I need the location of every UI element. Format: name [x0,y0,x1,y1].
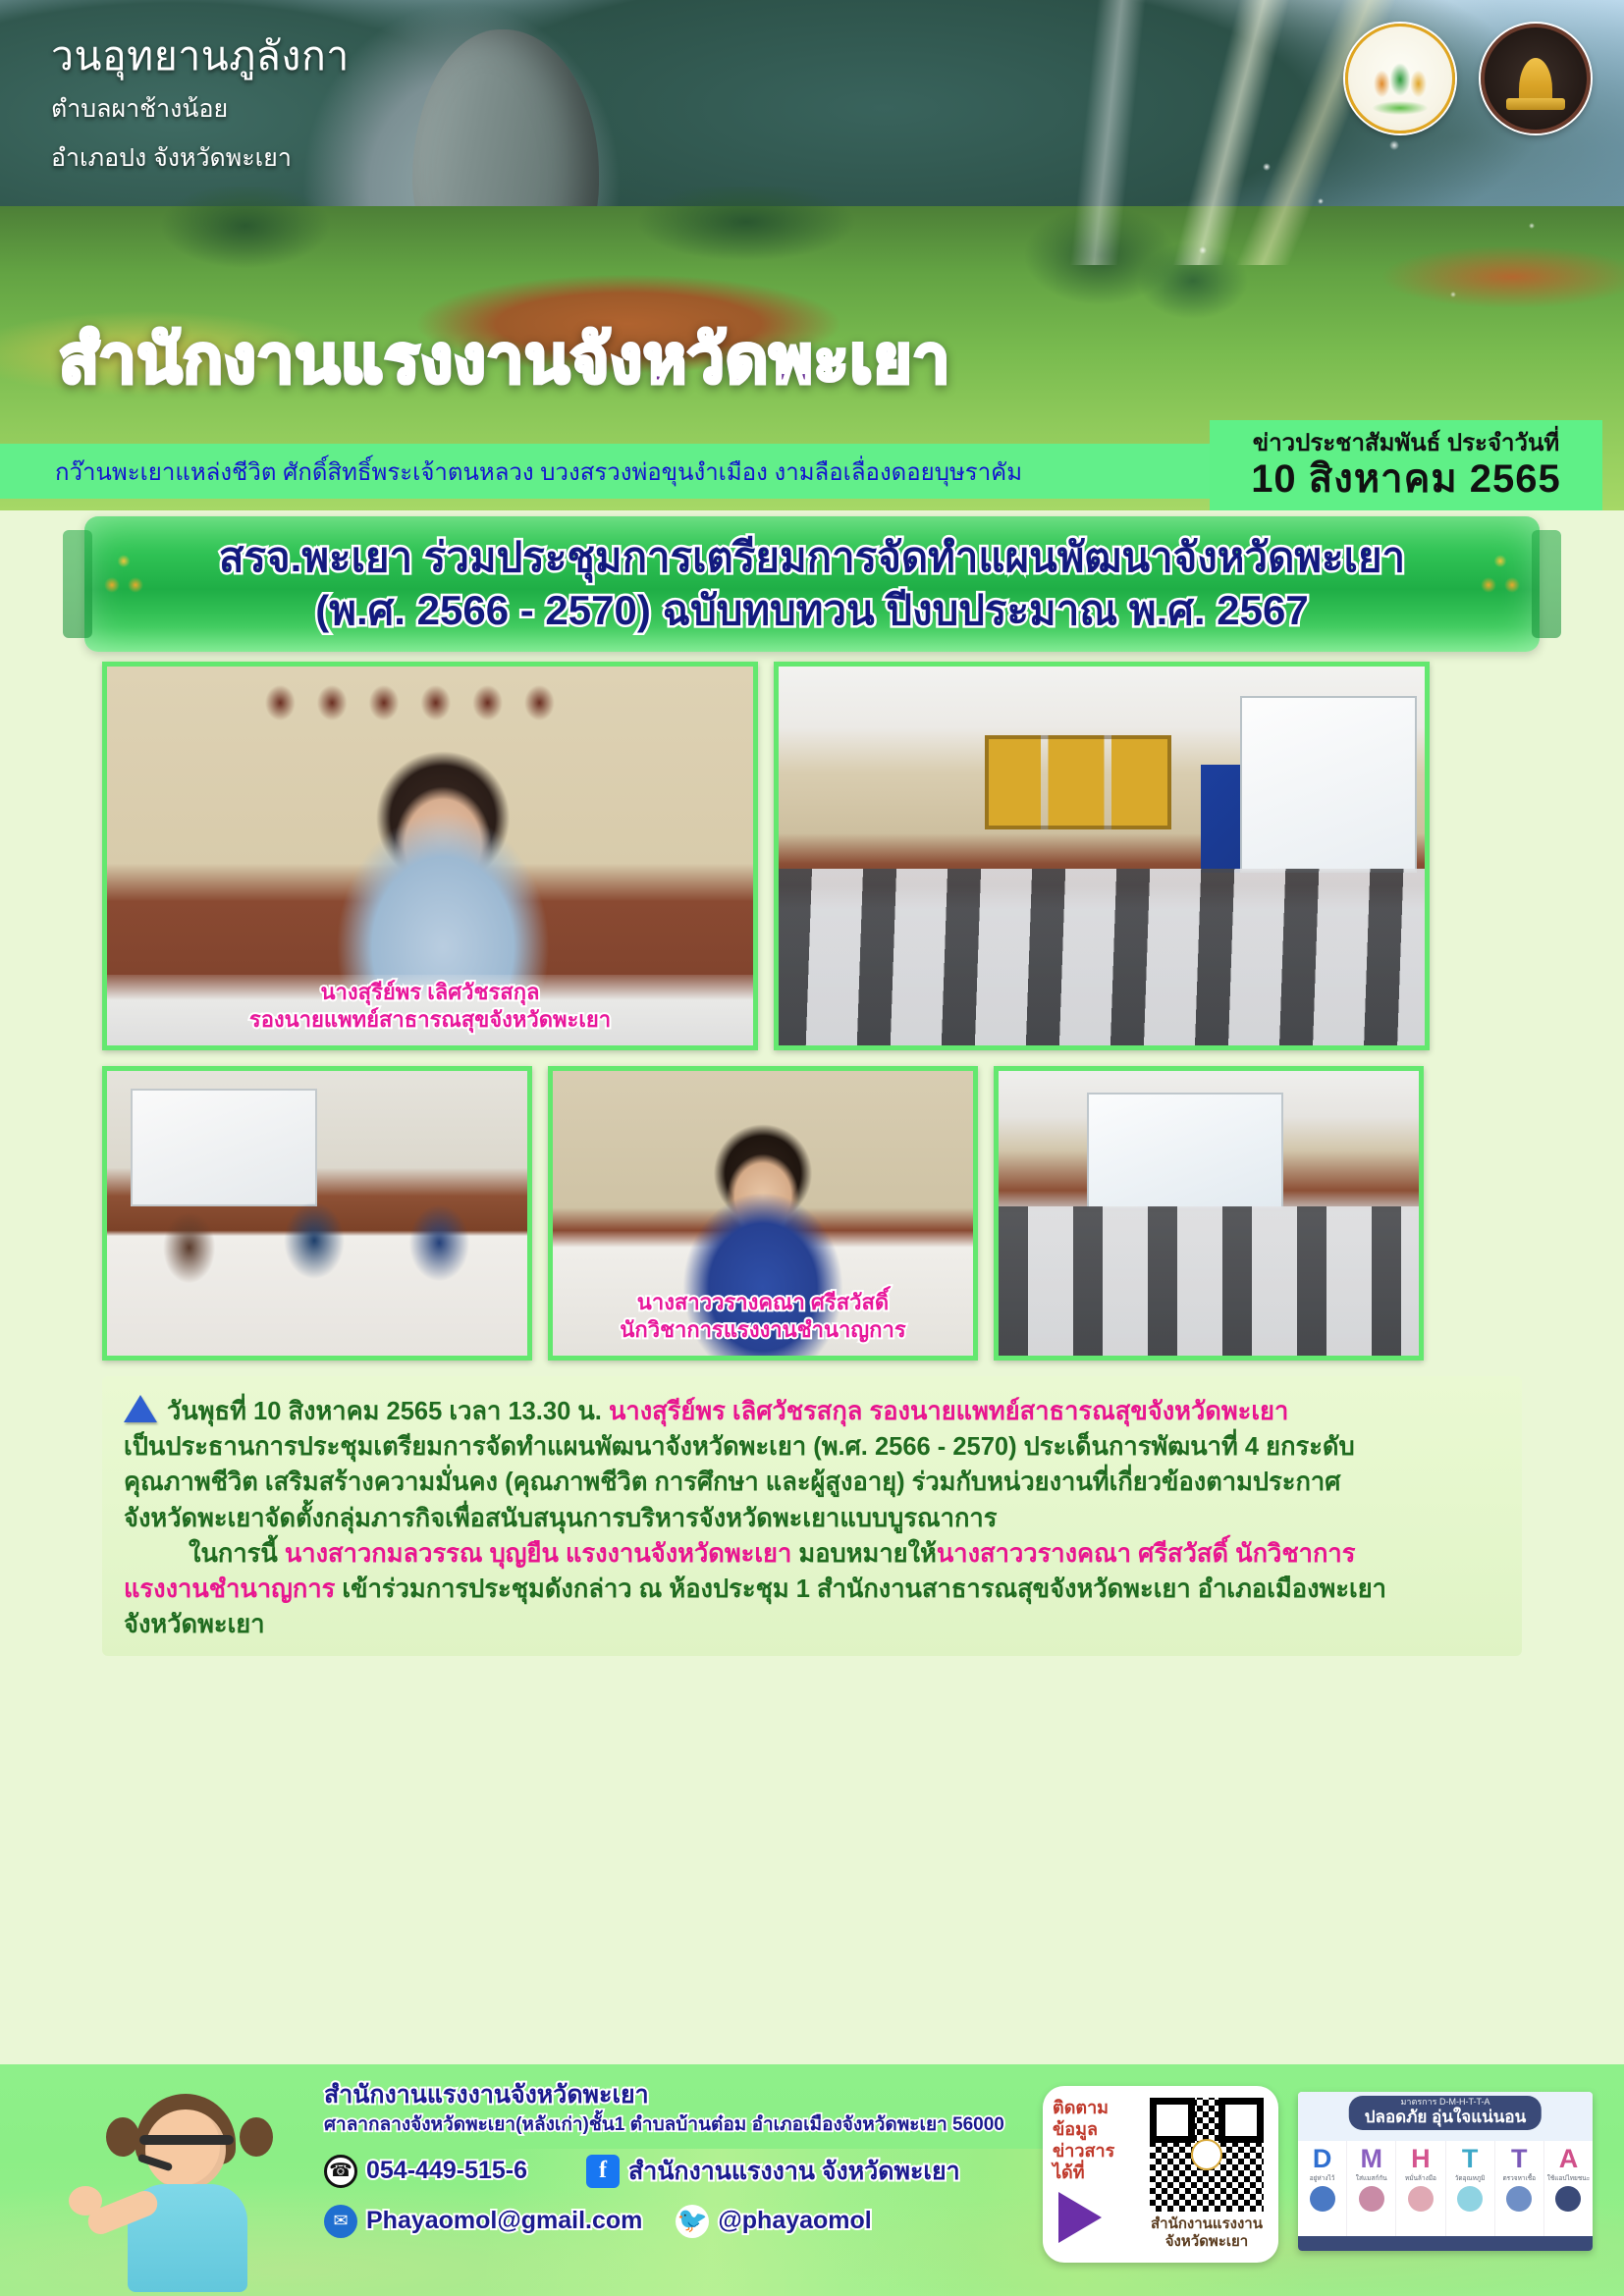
contact-row-2: ✉ Phayaomol@gmail.com 🐦 @phayaomol [324,2205,1011,2238]
organization-title: สำนักงานแรงงานจังหวัดพะเยา [0,324,1624,397]
dmhtta-letter: H [1411,2146,1431,2172]
dmhtta-column-d: D อยู่ห่างไว้ [1298,2141,1347,2236]
headline-ribbon: สรจ.พะเยา ร่วมประชุมการเตรียมการจัดทำแผน… [84,516,1540,652]
park-subline-2: อำเภอปง จังหวัดพะเยา [51,140,350,178]
slogan-bar: กว๊านพะเยาแหล่งชีวิต ศักดิ์สิทธิ์พระเจ้า… [0,444,1218,499]
photo-three-attendees [102,1066,532,1361]
dmhtta-label: วัดอุณหภูมิ [1455,2175,1486,2182]
dmhtta-column-m: M ใส่แมสก์กัน [1347,2141,1396,2236]
footer-address: ศาลากลางจังหวัดพะเยา(หลังเก่า)ชั้น1 ตำบล… [324,2113,1011,2138]
dmhtta-title: ปลอดภัย อุ่นใจแน่นอน [1365,2108,1526,2127]
photo-caption-labour-officer: นางสาววรางคณา ศรีสวัสดิ์ นักวิชาการแรงงา… [553,1289,973,1344]
caption-name: นางสาววรางคณา ศรีสวัสดิ์ [553,1289,973,1316]
twitter-handle: @phayaomol [718,2207,871,2235]
dmhtta-label: อยู่ห่างไว้ [1310,2175,1335,2182]
headline-ribbon-wrap: สรจ.พะเยา ร่วมประชุมการเตรียมการจัดทำแผน… [0,510,1624,658]
photo-row-bottom: นางสาววรางคณา ศรีสวัสดิ์ นักวิชาการแรงงา… [102,1066,1522,1361]
dmhtta-label: ใช้แอปไทยชนะ [1547,2175,1591,2182]
phone-contact[interactable]: ☎ 054-449-515-6 [324,2155,527,2188]
twitter-icon: 🐦 [676,2205,709,2238]
body-highlight-name: นางสุรีย์พร เลิศวัชรสกุล รองนายแพทย์สาธา… [609,1398,1288,1425]
hero-banner: วนอุทยานภูลังกา ตำบลผาช้างน้อย อำเภอปง จ… [0,0,1624,510]
operator-headset [139,2135,234,2145]
body-text: เข้าร่วมการประชุมดังกล่าว ณ ห้องประชุม 1… [335,1575,1386,1603]
dmhtta-title-pill: มาตรการ D-M-H-T-T-A ปลอดภัย อุ่นใจแน่นอน [1349,2096,1542,2130]
photo-meeting-room-wide [774,662,1430,1050]
body-paragraph-1-line-3: คุณภาพชีวิต เสริมสร้างความมั่นคง (คุณภาพ… [124,1465,1500,1500]
body-paragraph-2-line-3: จังหวัดพะเยา [124,1607,1500,1642]
qr-line-1: ติดตาม [1053,2098,1137,2119]
dmhtta-column-t2: T ตรวจหาเชื้อ [1495,2141,1544,2236]
body-paragraph-1-line-1: วันพุธที่ 10 สิงหาคม 2565 เวลา 13.30 น. … [124,1394,1500,1429]
body-paragraph-2-line-1: ในการนี้ นางสาวกมลวรรณ บุญยืน แรงงานจังห… [124,1536,1500,1572]
dmhtta-header: มาตรการ D-M-H-T-T-A ปลอดภัย อุ่นใจแน่นอน [1298,2092,1593,2141]
dmhtta-illustration-icon [1310,2186,1335,2212]
dmhtta-column-h: H หมั่นล้างมือ [1396,2141,1445,2236]
body-highlight-name-1: นางสาวกมลวรรณ บุญยืน แรงงานจังหวัดพะเยา [285,1540,791,1568]
org-title-wrap: สำนักงานแรงงานจังหวัดพะเยา [0,324,1624,397]
dmhtta-label: ใส่แมสก์กัน [1356,2175,1387,2182]
park-subline-1: ตำบลผาช้างน้อย [51,91,350,129]
qr-center-emblem [1191,2139,1222,2170]
footer-org-name: สำนักงานแรงงานจังหวัดพะเยา [324,2080,1011,2110]
dmhtta-illustration-icon [1506,2186,1532,2212]
photo-caption-chairperson: นางสุรีย์พร เลิศวัชรสกุล รองนายแพทย์สาธา… [107,979,753,1034]
contact-block: สำนักงานแรงงานจังหวัดพะเยา ศาลากลางจังหว… [324,2080,1011,2238]
caption-role: รองนายแพทย์สาธารณสุขจังหวัดพะเยา [107,1006,753,1034]
qr-caption: สำนักงานแรงงาน จังหวัดพะเยา [1151,2216,1263,2251]
phayao-province-seal-icon [1481,24,1591,133]
dmhtta-illustration-icon [1555,2186,1581,2212]
photo-row-top: นางสุรีย์พร เลิศวัชรสกุล รองนายแพทย์สาธา… [102,662,1522,1050]
email-address: Phayaomol@gmail.com [366,2207,642,2235]
facebook-icon: f [586,2155,620,2188]
qr-line-3: ข่าวสาร [1053,2141,1137,2163]
dmhtta-letter: T [1511,2146,1528,2172]
operator-hand [69,2186,102,2216]
photo-labour-officer: นางสาววรางคณา ศรีสวัสดิ์ นักวิชาการแรงงา… [548,1066,978,1361]
email-icon: ✉ [324,2205,357,2238]
body-paragraph-2-line-2: แรงงานชำนาญการ เข้าร่วมการประชุมดังกล่าว… [124,1572,1500,1607]
dmhtta-letter: M [1361,2146,1383,2172]
operator-head [145,2109,226,2190]
ribbon-ornament-left-icon [94,550,153,607]
photo-grid: นางสุรีย์พร เลิศวัชรสกุล รองนายแพทย์สาธา… [0,658,1624,1361]
footer-bar: สำนักงานแรงงานจังหวัดพะเยา ศาลากลางจังหว… [0,2064,1624,2296]
headline-line-2: (พ.ศ. 2566 - 2570) ฉบับทบทวน ปีงบประมาณ … [315,584,1308,637]
photo-room-projector [994,1066,1424,1361]
dmhtta-columns: D อยู่ห่างไว้ M ใส่แมสก์กัน H หมั่นล้างม… [1298,2141,1593,2236]
phone-icon: ☎ [324,2155,357,2188]
contact-row-1: ☎ 054-449-515-6 f สำนักงานแรงงาน จังหวัด… [324,2152,1011,2191]
province-slogan: กว๊านพะเยาแหล่งชีวิต ศักดิ์สิทธิ์พระเจ้า… [0,453,1022,491]
date-value: 10 สิงหาคม 2565 [1251,456,1561,502]
email-contact[interactable]: ✉ Phayaomol@gmail.com [324,2205,642,2238]
qr-line-2: ข้อมูล [1053,2119,1137,2141]
dmhtta-illustration-icon [1359,2186,1384,2212]
projector-screen [1240,696,1417,873]
dmhtta-column-t1: T วัดอุณหภูมิ [1446,2141,1495,2236]
body-paragraph-1-line-2: เป็นประธานการประชุมเตรียมการจัดทำแผนพัฒน… [124,1429,1500,1465]
body-paragraph-1-line-4: จังหวัดพะเยาจัดตั้งกลุ่มภารกิจเพื่อสนับส… [124,1501,1500,1536]
dmhtta-illustration-icon [1457,2186,1483,2212]
seating-rows [999,1206,1419,1356]
photo-chairperson: นางสุรีย์พร เลิศวัชรสกุล รองนายแพทย์สาธา… [102,662,758,1050]
dmhtta-illustration-icon [1408,2186,1434,2212]
royal-portraits [985,735,1171,829]
triangle-bullet-icon [124,1395,157,1422]
body-text: มอบหมายให้ [791,1540,937,1568]
ribbon-ornament-right-icon [1471,550,1530,607]
qr-follow-card[interactable]: ติดตาม ข้อมูล ข่าวสาร ได้ที่ สำนักงานแรง… [1043,2086,1278,2263]
seating-rows [779,869,1425,1045]
body-highlight-name-2: นางสาววรางคณา ศรีสวัสดิ์ นักวิชาการ [937,1540,1356,1568]
dmhtta-banner: มาตรการ D-M-H-T-T-A ปลอดภัย อุ่นใจแน่นอน… [1298,2092,1593,2251]
phone-number: 054-449-515-6 [366,2157,527,2185]
qr-code-icon[interactable] [1150,2098,1264,2212]
headline-line-1: สรจ.พะเยา ร่วมประชุมการเตรียมการจัดทำแผน… [219,531,1405,584]
caption-name: นางสุรีย์พร เลิศวัชรสกุล [107,979,753,1006]
attendees-group [127,1177,517,1295]
body-text: ในการนี้ [189,1540,285,1568]
twitter-contact[interactable]: 🐦 @phayaomol [676,2205,871,2238]
dmhtta-letter: T [1462,2146,1479,2172]
dmhtta-label: หมั่นล้างมือ [1405,2175,1436,2182]
facebook-name: สำนักงานแรงงาน จังหวัดพะเยา [628,2152,960,2191]
ministry-of-labour-seal-icon [1345,24,1455,133]
call-center-operator-illustration [102,2084,277,2290]
dmhtta-label: ตรวจหาเชื้อ [1502,2175,1536,2182]
dmhtta-letter: D [1313,2146,1332,2172]
body-text-card: วันพุธที่ 10 สิงหาคม 2565 เวลา 13.30 น. … [102,1376,1522,1656]
emblem-group [1345,24,1591,133]
dmhtta-small-title: มาตรการ D-M-H-T-T-A [1365,2098,1526,2108]
park-label: วนอุทยานภูลังกา ตำบลผาช้างน้อย อำเภอปง จ… [51,33,350,177]
caption-role: นักวิชาการแรงงานชำนาญการ [553,1316,973,1344]
play-triangle-icon [1058,2192,1102,2243]
dmhtta-footer-bar [1298,2236,1593,2251]
operator-hair-bun-left [106,2117,139,2157]
date-label: ข่าวประชาสัมพันธ์ ประจำวันที่ [1253,431,1559,456]
qr-card-text: ติดตาม ข้อมูล ข่าวสาร ได้ที่ [1053,2098,1137,2251]
park-title: วนอุทยานภูลังกา [51,33,350,80]
qr-caption-line-2: จังหวัดพะเยา [1151,2233,1263,2251]
date-badge: ข่าวประชาสัมพันธ์ ประจำวันที่ 10 สิงหาคม… [1210,420,1602,510]
qr-caption-line-1: สำนักงานแรงงาน [1151,2216,1263,2233]
projection-screen [1087,1093,1283,1210]
dmhtta-letter: A [1559,2146,1579,2172]
tree-layer [0,187,1624,334]
qr-code-block: สำนักงานแรงงาน จังหวัดพะเยา [1145,2098,1269,2251]
facebook-contact[interactable]: f สำนักงานแรงงาน จังหวัดพะเยา [586,2152,960,2191]
qr-line-4: ได้ที่ [1053,2163,1137,2184]
dmhtta-column-a: A ใช้แอปไทยชนะ [1544,2141,1593,2236]
operator-hair-bun-right [240,2117,273,2157]
body-highlight-role: แรงงานชำนาญการ [124,1575,335,1603]
body-text: วันพุธที่ 10 สิงหาคม 2565 เวลา 13.30 น. [167,1398,609,1425]
